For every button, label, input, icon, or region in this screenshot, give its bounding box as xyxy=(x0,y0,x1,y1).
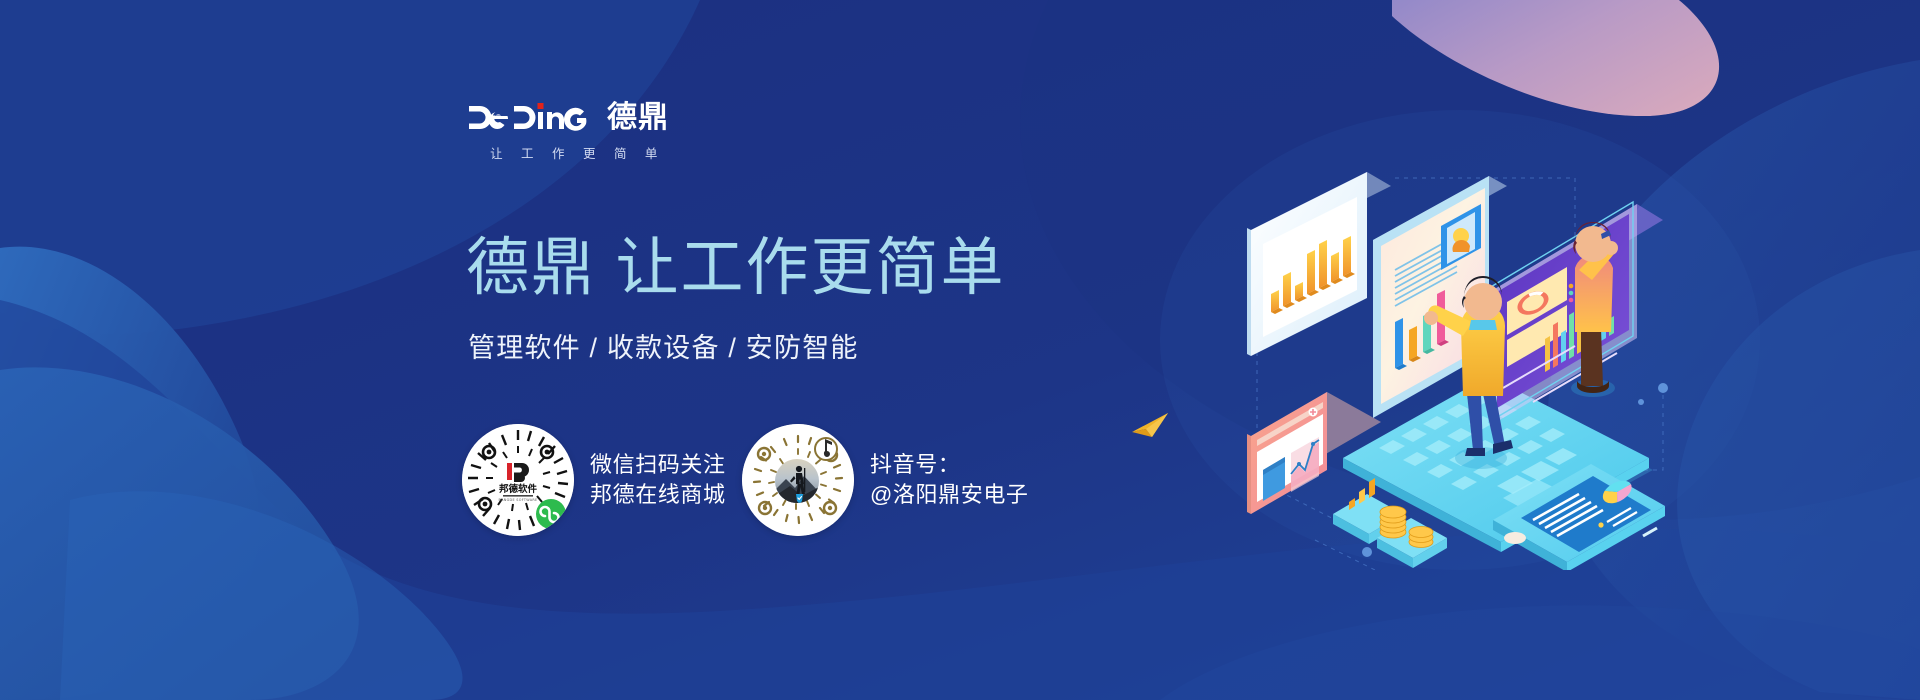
isometric-business-analytics-illustration xyxy=(1245,140,1675,570)
paper-plane-icon xyxy=(1128,405,1172,449)
douyin-qr-block[interactable]: 抖音号： @洛阳鼎安电子 xyxy=(742,424,1029,536)
wechat-caption-line2: 邦德在线商城 xyxy=(590,480,726,510)
wechat-miniprogram-icon[interactable]: 邦德软件 BANGDE SOFTWARE xyxy=(462,424,574,536)
logo-accent-dot xyxy=(538,103,544,109)
douyin-caption-line2: @洛阳鼎安电子 xyxy=(870,480,1029,510)
hero-headline: 德鼎 让工作更简单 xyxy=(466,234,1006,302)
douyin-icon[interactable] xyxy=(742,424,854,536)
promotional-banner: 德鼎 让 工 作 更 简 单 德鼎 让工作更简单 管理软件 / 收款设备 / 安… xyxy=(0,0,1920,700)
logo-chinese-name: 德鼎 xyxy=(607,103,669,133)
wechat-qr-block[interactable]: 邦德软件 BANGDE SOFTWARE 微信扫码关注 邦德在线商城 xyxy=(462,424,726,536)
svg-text:BANGDE SOFTWARE: BANGDE SOFTWARE xyxy=(499,498,538,502)
svg-text:邦德软件: 邦德软件 xyxy=(499,483,538,495)
wechat-caption-line1: 微信扫码关注 xyxy=(590,450,726,480)
douyin-qr-caption: 抖音号： @洛阳鼎安电子 xyxy=(870,450,1029,509)
logo-wordmark-deding xyxy=(468,98,598,134)
logo-tagline: 让 工 作 更 简 单 xyxy=(468,143,683,162)
wechat-qr-caption: 微信扫码关注 邦德在线商城 xyxy=(590,450,726,509)
douyin-caption-line1: 抖音号： xyxy=(870,450,1029,480)
brand-logo[interactable]: 德鼎 让 工 作 更 简 单 xyxy=(468,98,683,162)
hero-subheadline: 管理软件 / 收款设备 / 安防智能 xyxy=(468,326,859,365)
bar-chart-panel xyxy=(1247,172,1391,356)
